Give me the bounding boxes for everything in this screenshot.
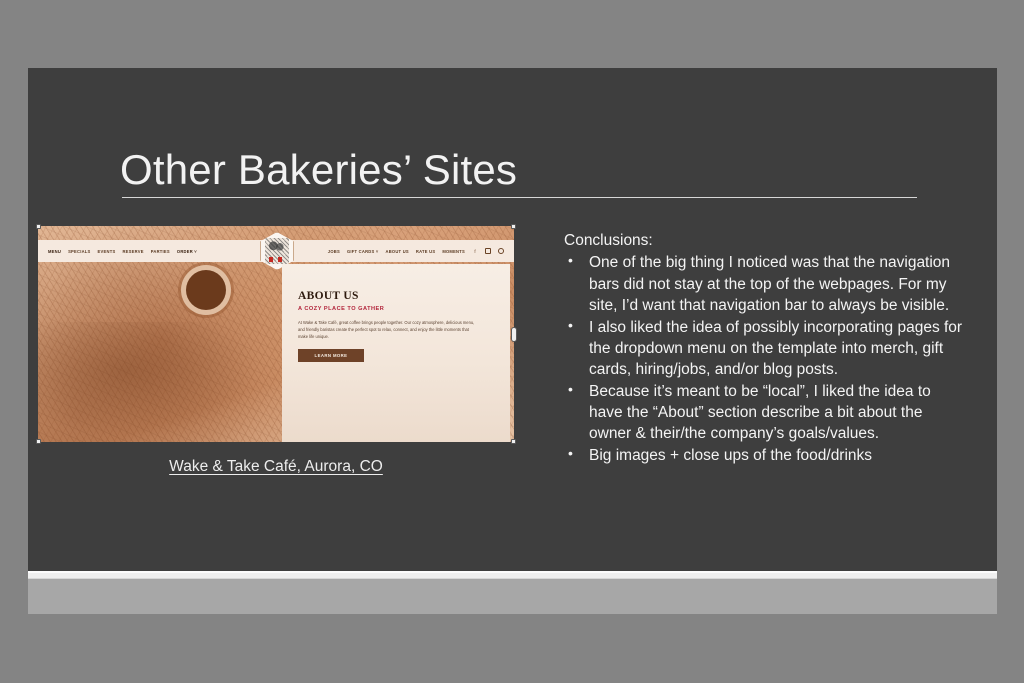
selection-handle-bottom-right[interactable] bbox=[511, 439, 516, 444]
list-item: I also liked the idea of possibly incorp… bbox=[564, 317, 964, 381]
nav-items-left: MENU SPECIALS EVENTS RESERVE PARTIES ORD… bbox=[48, 249, 197, 254]
nav-item-specials[interactable]: SPECIALS bbox=[68, 249, 90, 254]
list-item: One of the big thing I noticed was that … bbox=[564, 252, 964, 316]
nav-item-about-us[interactable]: ABOUT US bbox=[386, 249, 409, 254]
image-caption: Wake & Take Café, Aurora, CO bbox=[38, 458, 514, 476]
about-subtitle: A COZY PLACE TO GATHER bbox=[298, 306, 494, 312]
nav-item-gift-cards[interactable]: GIFT CARDS ˅ bbox=[347, 249, 379, 254]
nav-item-moments[interactable]: MOMENTS bbox=[442, 249, 465, 254]
nav-item-reserve[interactable]: RESERVE bbox=[122, 249, 143, 254]
title-divider bbox=[122, 197, 917, 198]
page-title: Other Bakeries’ Sites bbox=[120, 146, 517, 194]
about-heading: ABOUT US bbox=[298, 290, 494, 302]
list-item: Because it’s meant to be “local”, I like… bbox=[564, 381, 964, 445]
nav-item-events[interactable]: EVENTS bbox=[98, 249, 116, 254]
owl-shading bbox=[38, 322, 268, 442]
nav-items-right: JOBS GIFT CARDS ˅ ABOUT US RATE US MOMEN… bbox=[328, 248, 504, 254]
website-screenshot-frame: MENU SPECIALS EVENTS RESERVE PARTIES ORD… bbox=[38, 226, 514, 442]
list-item: Big images + close ups of the food/drink… bbox=[564, 445, 964, 466]
instagram-icon[interactable] bbox=[485, 248, 491, 254]
conclusions-heading: Conclusions: bbox=[564, 230, 964, 251]
facebook-icon[interactable]: f bbox=[472, 248, 478, 254]
selection-handle-top-left[interactable] bbox=[36, 224, 41, 229]
about-body-text: At Wake & Take Café, great coffee brings… bbox=[298, 319, 478, 340]
slide-bottom-strip bbox=[28, 571, 997, 579]
conclusions-block: Conclusions: One of the big thing I noti… bbox=[564, 230, 964, 466]
nav-item-parties[interactable]: PARTIES bbox=[151, 249, 170, 254]
conclusions-bullet-list: One of the big thing I noticed was that … bbox=[564, 252, 964, 466]
selection-handle-right[interactable] bbox=[511, 327, 517, 342]
nav-item-menu[interactable]: MENU bbox=[48, 249, 61, 254]
learn-more-button[interactable]: LEARN MORE bbox=[298, 349, 364, 362]
slide-canvas[interactable]: Other Bakeries’ Sites MENU SPECIALS EVEN… bbox=[28, 68, 997, 571]
google-icon[interactable] bbox=[498, 248, 504, 254]
nav-item-order[interactable]: ORDER ˅ bbox=[177, 249, 197, 254]
about-section-panel: ABOUT US A COZY PLACE TO GATHER At Wake … bbox=[282, 264, 510, 442]
nav-item-jobs[interactable]: JOBS bbox=[328, 249, 340, 254]
selection-handle-bottom-left[interactable] bbox=[36, 439, 41, 444]
site-logo-accent-right bbox=[278, 257, 282, 262]
site-logo-accent-left bbox=[269, 257, 273, 262]
owl-eye bbox=[186, 270, 226, 310]
selection-handle-top-right[interactable] bbox=[511, 224, 516, 229]
website-screenshot-image[interactable]: MENU SPECIALS EVENTS RESERVE PARTIES ORD… bbox=[38, 226, 514, 442]
nav-item-rate-us[interactable]: RATE US bbox=[416, 249, 435, 254]
image-caption-text: Wake & Take Café, Aurora, CO bbox=[169, 458, 383, 475]
below-slide-band bbox=[28, 579, 997, 614]
